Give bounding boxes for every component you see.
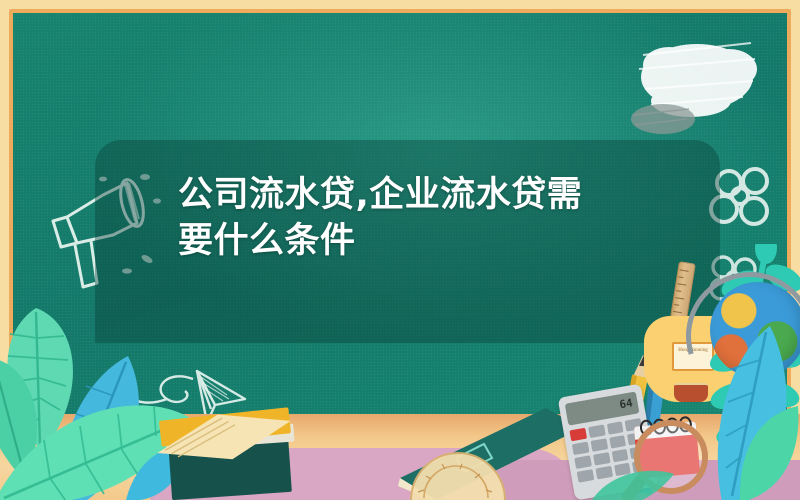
calculator-key[interactable] <box>588 425 605 439</box>
calculator-key[interactable] <box>569 428 586 442</box>
calculator-key[interactable] <box>590 438 607 452</box>
calculator-key[interactable] <box>606 421 623 435</box>
promo-banner: 公司流水贷,企业流水贷需 要什么条件 <box>0 0 800 500</box>
illustration-layer: Hong Running 64 <box>0 0 800 500</box>
calculator-key[interactable] <box>611 449 628 463</box>
foliage-leaf-bottom <box>586 466 676 500</box>
calculator-key[interactable] <box>609 435 626 449</box>
protractor-markings <box>410 452 502 500</box>
book-open-cream <box>150 398 300 468</box>
foliage-leaf-right-mint <box>736 406 800 500</box>
calculator-key[interactable] <box>572 442 589 456</box>
calculator-key[interactable] <box>593 452 610 466</box>
